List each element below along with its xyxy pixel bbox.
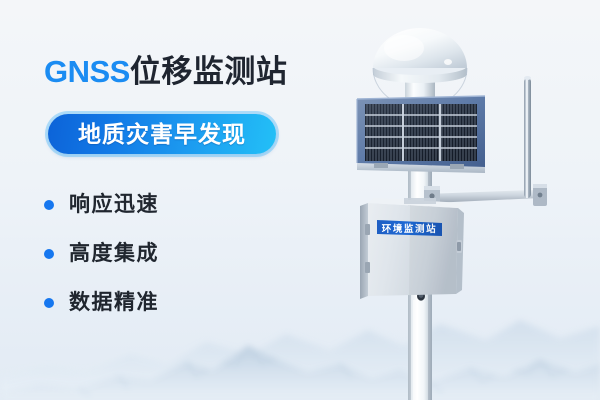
solar-panel bbox=[357, 96, 485, 173]
page-title: GNSS位移监测站 bbox=[44, 56, 287, 87]
status-badge: 地质灾害早发现 bbox=[48, 114, 276, 154]
list-item-label: 高度集成 bbox=[69, 243, 159, 264]
list-item-label: 数据精准 bbox=[69, 292, 159, 313]
title-rest: 位移监测站 bbox=[130, 54, 288, 89]
feature-list: 响应迅速 高度集成 数据精准 bbox=[44, 180, 274, 327]
list-item: 高度集成 bbox=[44, 229, 274, 278]
bullet-dot-icon bbox=[44, 249, 54, 259]
bullet-dot-icon bbox=[44, 298, 54, 308]
gnss-dome-antenna bbox=[373, 28, 467, 108]
box-mount-strap bbox=[404, 198, 436, 204]
banner-image: 环境监测站 GNSS位移监测站 地质灾害早发现 响应迅速 bbox=[0, 0, 600, 400]
title-brand: GNSS bbox=[44, 54, 130, 89]
enclosure-box: 环境监测站 bbox=[360, 198, 464, 299]
list-item: 数据精准 bbox=[44, 278, 274, 327]
list-item: 响应迅速 bbox=[44, 180, 274, 229]
list-item-label: 响应迅速 bbox=[69, 194, 159, 215]
status-badge-label: 地质灾害早发现 bbox=[78, 123, 246, 146]
antenna-rod bbox=[524, 76, 531, 198]
bullet-dot-icon bbox=[44, 200, 54, 210]
